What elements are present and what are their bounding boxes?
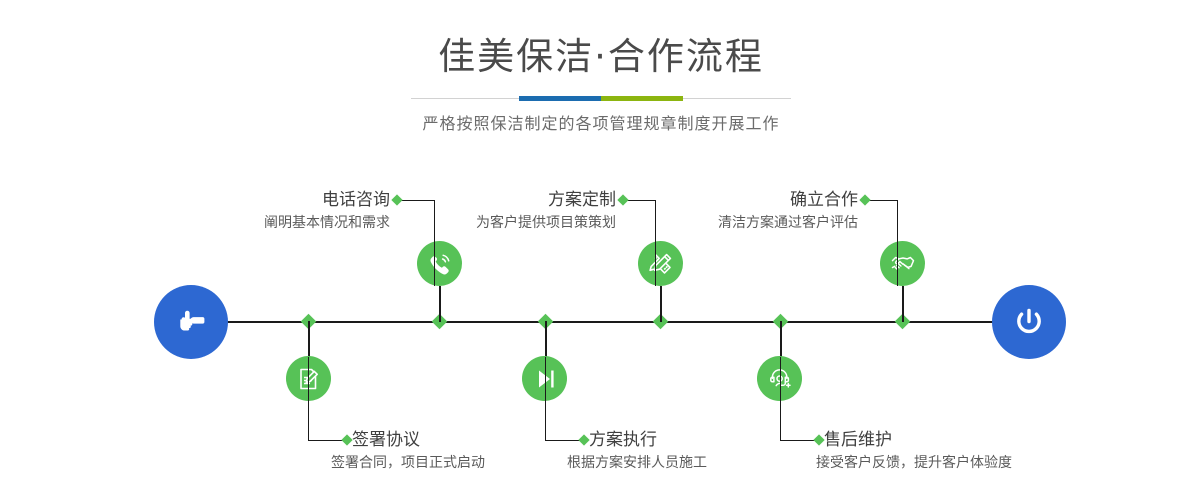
step-description: 为客户提供项目策策划 [436, 213, 616, 233]
pencil-ruler-icon [647, 250, 675, 278]
step-label-1: 电话咨询 阐明基本情况和需求 [210, 189, 390, 233]
connector-stem [308, 321, 310, 357]
end-node[interactable] [992, 285, 1066, 359]
start-node[interactable] [154, 285, 228, 359]
step-title: 方案定制 [436, 189, 616, 211]
step-title: 方案执行 [589, 429, 809, 451]
connector-stem [439, 286, 441, 322]
step-node-1[interactable] [417, 241, 462, 286]
step-description: 根据方案安排人员施工 [567, 453, 809, 473]
power-icon [1008, 301, 1050, 343]
step-title: 签署协议 [352, 429, 572, 451]
step-label-5: 确立合作 清洁方案通过客户评估 [678, 189, 858, 233]
label-leader-tip [391, 194, 402, 205]
step-node-3[interactable] [638, 241, 683, 286]
phone-call-icon [426, 250, 454, 278]
step-description: 阐明基本情况和需求 [210, 213, 390, 233]
connector-stem [545, 321, 547, 357]
handshake-icon [889, 250, 917, 278]
timeline: 电话咨询 阐明基本情况和需求 方案定制 为客户提供项目策策划 确立合作 清洁方案… [0, 0, 1202, 502]
connector-stem [780, 321, 782, 357]
step-title: 售后维护 [824, 429, 1084, 451]
label-leader-tip [859, 194, 870, 205]
label-leader-horizontal [308, 440, 346, 441]
step-description: 清洁方案通过客户评估 [678, 213, 858, 233]
label-leader-vertical [897, 200, 898, 286]
process-flow-infographic: 佳美保洁·合作流程 严格按照保洁制定的各项管理规章制度开展工作 [0, 0, 1202, 502]
label-leader-tip [578, 434, 589, 445]
pointing-hand-icon [171, 302, 211, 342]
step-title: 确立合作 [678, 189, 858, 211]
step-label-6: 售后维护 接受客户反馈，提升客户体验度 [824, 429, 1084, 473]
step-node-5[interactable] [880, 241, 925, 286]
step-label-3: 方案定制 为客户提供项目策策划 [436, 189, 616, 233]
step-label-4: 方案执行 根据方案安排人员施工 [589, 429, 809, 473]
label-leader-tip [341, 434, 352, 445]
label-leader-vertical [655, 200, 656, 286]
step-description: 签署合同，项目正式启动 [331, 453, 572, 473]
label-leader-tip [813, 434, 824, 445]
label-leader-tip [617, 194, 628, 205]
step-label-2: 签署协议 签署合同，项目正式启动 [352, 429, 572, 473]
connector-stem [902, 286, 904, 322]
step-title: 电话咨询 [210, 189, 390, 211]
connector-stem [660, 286, 662, 322]
step-description: 接受客户反馈，提升客户体验度 [816, 453, 1084, 473]
label-leader-vertical [308, 357, 309, 441]
